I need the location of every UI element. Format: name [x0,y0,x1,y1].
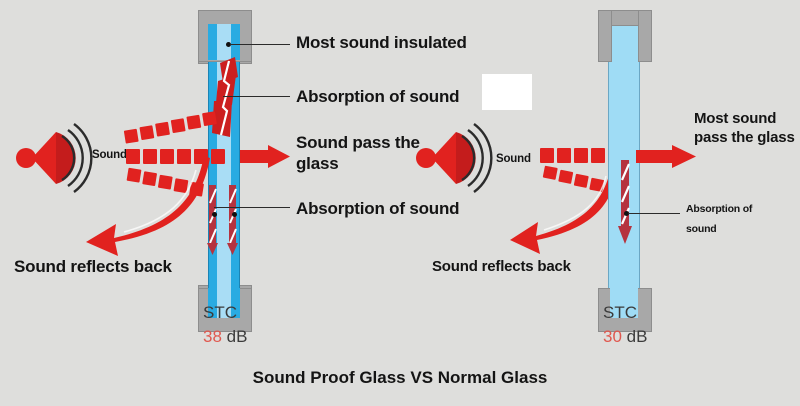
right-frame-top-right-leg [638,10,652,62]
left-passthrough-arrow [240,144,292,170]
left-stc-unit: dB [227,327,248,346]
right-passthrough-arrow [636,144,698,170]
label-absorption-of-sound-right: Absorption of sound [686,200,786,240]
right-stc-unit: dB [627,327,648,346]
left-stc: STC 38 dB [203,303,247,347]
left-stc-label: STC [203,303,247,323]
label-most-sound-pass-the-glass: Most sound pass the glass [694,110,800,148]
left-leader-dot-absorption-bottom-a [212,212,217,217]
speaker-icon-right [412,122,498,194]
right-stc: STC 30 dB [603,303,647,347]
left-reflected-sound-arrow [72,150,212,260]
right-absorption-arrow [614,160,638,250]
label-most-sound-insulated: Most sound insulated [296,32,467,53]
page-title: Sound Proof Glass VS Normal Glass [0,368,800,388]
left-leader-line-absorption-bottom [214,207,290,208]
label-sound-reflects-back-left: Sound reflects back [14,256,172,277]
right-stc-value: 30 [603,327,622,346]
left-leader-dot-absorption-bottom-b [232,212,237,217]
diagram-canvas: Sound [0,0,800,406]
label-absorption-of-sound-top: Absorption of sound [296,86,459,107]
white-overlay-box [482,74,532,110]
right-leader-line-absorption [628,213,680,214]
left-leader-line-absorption-top [223,96,290,97]
left-leader-line-insulated [230,44,290,45]
right-reflected-sound-arrow [500,158,620,258]
label-sound-reflects-back-right: Sound reflects back [432,258,571,277]
label-absorption-of-sound-bottom: Absorption of sound [296,198,459,219]
left-stc-value: 38 [203,327,222,346]
right-frame-top-left-leg [598,10,612,62]
right-stc-label: STC [603,303,647,323]
